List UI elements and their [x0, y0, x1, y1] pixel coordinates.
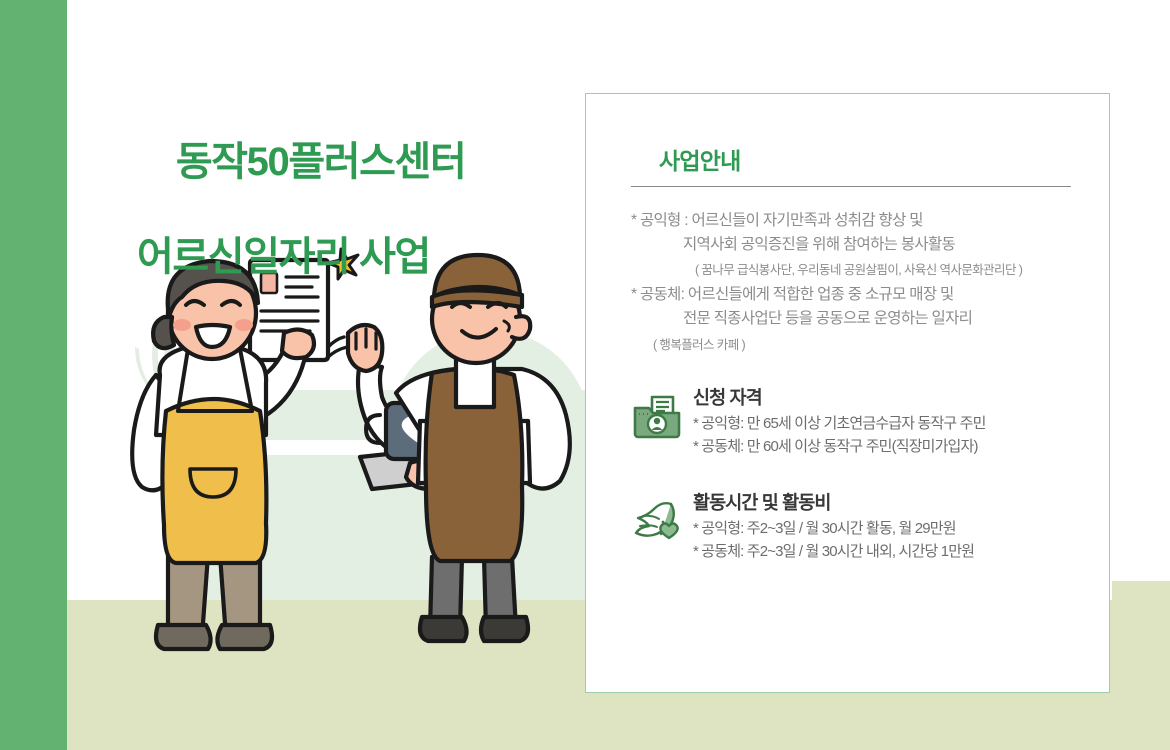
folder-person-icon-wrap	[631, 384, 693, 447]
section-activity-line-1: * 공익형: 주2~3일 / 월 30시간 활동, 월 29만원	[693, 518, 1071, 541]
desc-gongik-note: ( 꿈나무 급식봉사단, 우리동네 공원살핌이, 사육신 역사문화관리단 )	[631, 258, 1071, 283]
section-eligibility-heading: 신청 자격	[693, 384, 1071, 410]
section-activity-body: 활동시간 및 활동비 * 공익형: 주2~3일 / 월 30시간 활동, 월 2…	[693, 489, 1071, 564]
desc-gongdongche-note: ( 행복플러스 카페 )	[631, 332, 1071, 358]
info-card: 사업안내 * 공익형 : 어르신들이 자기만족과 성취감 향상 및 지역사회 공…	[585, 93, 1110, 693]
poster-root: 동작50플러스센터 어르신일자리 사업	[0, 0, 1170, 750]
section-activity-heading: 활동시간 및 활동비	[693, 489, 1071, 515]
desc-gongdongche-line-2: 전문 직종사업단 등을 공동으로 운영하는 일자리	[631, 307, 1071, 331]
desc-gongik-line-2: 지역사회 공익증진을 위해 참여하는 봉사활동	[631, 233, 1071, 257]
dove-heart-icon	[631, 495, 685, 549]
card-title: 사업안내	[659, 142, 1071, 176]
section-activity: 활동시간 및 활동비 * 공익형: 주2~3일 / 월 30시간 활동, 월 2…	[631, 489, 1071, 564]
desc-gongdongche-line-1: * 공동체: 어르신들에게 적합한 업종 중 소규모 매장 및	[631, 283, 1071, 307]
section-eligibility-line-1: * 공익형: 만 65세 이상 기초연금수급자 동작구 주민	[693, 413, 1071, 436]
folder-person-icon	[631, 390, 683, 442]
program-description: * 공익형 : 어르신들이 자기만족과 성취감 향상 및 지역사회 공익증진을 …	[631, 209, 1071, 358]
page-title-line-2: 어르신일자리 사업	[137, 234, 465, 281]
section-eligibility-body: 신청 자격 * 공익형: 만 65세 이상 기초연금수급자 동작구 주민 * 공…	[693, 384, 1071, 459]
section-activity-line-2: * 공동체: 주2~3일 / 월 30시간 내외, 시간당 1만원	[693, 541, 1071, 564]
desc-gongik-line-1: * 공익형 : 어르신들이 자기만족과 성취감 향상 및	[631, 209, 1071, 233]
left-accent-bar	[0, 0, 67, 750]
woman-apron	[162, 399, 266, 563]
section-eligibility-line-2: * 공동체: 만 60세 이상 동작구 주민(직장미가입자)	[693, 436, 1071, 459]
page-title: 동작50플러스센터 어르신일자리 사업	[137, 92, 465, 375]
section-eligibility: 신청 자격 * 공익형: 만 65세 이상 기초연금수급자 동작구 주민 * 공…	[631, 384, 1071, 459]
floor-background-right	[1112, 581, 1170, 750]
dove-heart-icon-wrap	[631, 489, 693, 554]
card-title-divider	[631, 186, 1071, 187]
page-title-line-1: 동작50플러스센터	[176, 140, 466, 184]
